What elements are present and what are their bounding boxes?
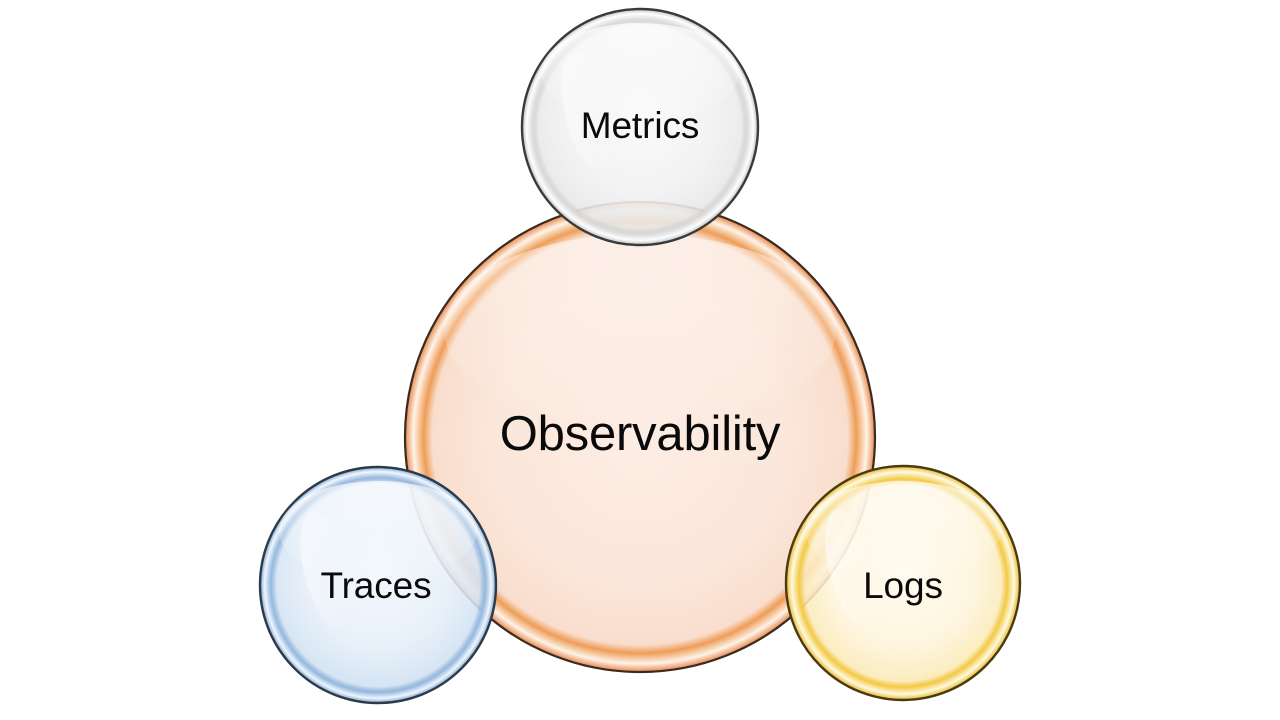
circle-metrics[interactable]: Metrics bbox=[522, 9, 758, 245]
observability-venn-diagram: Observability Metrics Traces bbox=[0, 0, 1280, 720]
circle-logs[interactable]: Logs bbox=[786, 466, 1020, 700]
observability-gloss-highlight bbox=[444, 234, 836, 426]
circle-traces[interactable]: Traces bbox=[260, 467, 496, 703]
logs-label: Logs bbox=[863, 565, 943, 606]
observability-label: Observability bbox=[500, 407, 781, 461]
metrics-label: Metrics bbox=[581, 105, 700, 146]
venn-diagram-svg: Observability Metrics Traces bbox=[0, 0, 1280, 720]
traces-label: Traces bbox=[320, 565, 431, 606]
